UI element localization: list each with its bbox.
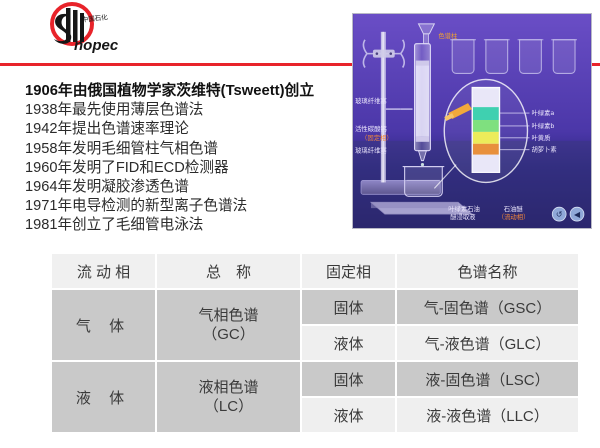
receiving-beaker: [403, 167, 445, 197]
beaker-icon: [484, 40, 510, 74]
cell-general-name-abbr: （GC）: [157, 325, 300, 344]
cell-chromatography-name: 气-固色谱（GSC）: [397, 290, 578, 324]
cell-general-name-abbr: （LC）: [157, 397, 300, 416]
timeline-line: 1964年发明凝胶渗透色谱: [25, 178, 347, 197]
figure-label-stationary-phase: 活性碳酸钙: [355, 124, 387, 133]
cell-general-name: 液相色谱 （LC）: [157, 362, 300, 432]
svg-text:中国石化: 中国石化: [81, 12, 108, 24]
svg-text:nopec: nopec: [74, 37, 119, 54]
figure-label-band4: 胡萝卜素: [531, 145, 557, 154]
svg-text:↺: ↺: [556, 210, 563, 219]
slide-root: nopec 中国石化 1906年由俄国植物学家茨维特(Tsweett)创立 19…: [0, 0, 600, 448]
cell-mobile-phase: 气 体: [52, 290, 155, 360]
beaker-icon: [518, 40, 544, 74]
column-header-mobile-phase: 流 动 相: [52, 254, 155, 288]
table-row: 气 体 气相色谱 （GC） 固体 气-固色谱（GSC）: [52, 290, 578, 324]
beaker-icon: [450, 40, 476, 74]
timeline-line: 1906年由俄国植物学家茨维特(Tsweett)创立: [25, 82, 347, 101]
chromatography-classification-table: 流 动 相 总 称 固定相 色谱名称 气 体 气相色谱 （GC） 固体 气-固色…: [50, 252, 578, 428]
figure-label-band2: 叶绿素b: [531, 121, 554, 130]
chromatography-history-timeline: 1906年由俄国植物学家茨维特(Tsweett)创立 1938年最先使用薄层色谱…: [25, 82, 347, 236]
chromatography-apparatus-figure: 色谱柱 玻璃纤维塞 活性碳酸钙 （固定相） 玻璃纤维塞 叶绿素a 叶绿素b 叶黄…: [352, 13, 592, 229]
cell-stationary-phase: 液体: [302, 398, 395, 432]
figure-label-glass-wool-bottom: 玻璃纤维塞: [355, 146, 387, 155]
timeline-line: 1958年发明毛细管柱气相色谱: [25, 140, 347, 159]
figure-label-band3: 叶黄质: [531, 133, 551, 142]
cell-stationary-phase: 固体: [302, 290, 395, 324]
timeline-line: 1971年电导检测的新型离子色谱法: [25, 197, 347, 216]
cell-chromatography-name: 气-液色谱（GLC）: [397, 326, 578, 360]
timeline-line: 1942年提出色谱速率理论: [25, 120, 347, 139]
cell-general-name-text: 气相色谱: [157, 306, 300, 325]
column-header-general-name: 总 称: [157, 254, 300, 288]
figure-label-extract: 叶绿素石油: [448, 204, 480, 213]
column-header-chromatography-name: 色谱名称: [397, 254, 578, 288]
timeline-line: 1960年发明了FID和ECD检测器: [25, 159, 347, 178]
cell-general-name: 气相色谱 （GC）: [157, 290, 300, 360]
figure-label-extract2: 醚浸取液: [450, 212, 476, 221]
timeline-line: 1981年创立了毛细管电泳法: [25, 216, 347, 235]
sinopec-logo: nopec 中国石化: [30, 2, 126, 60]
cell-mobile-phase: 液 体: [52, 362, 155, 432]
cell-stationary-phase: 固体: [302, 362, 395, 396]
table-row: 液 体 液相色谱 （LC） 固体 液-固色谱（LSC）: [52, 362, 578, 396]
column-header-stationary-phase: 固定相: [302, 254, 395, 288]
figure-label-band1: 叶绿素a: [531, 108, 554, 117]
figure-label-mobile-phase: 石油醚: [504, 204, 524, 213]
svg-text:◀: ◀: [574, 210, 581, 219]
figure-label-mobile-phase-note: （流动相）: [498, 212, 530, 221]
cell-stationary-phase: 液体: [302, 326, 395, 360]
table-header-row: 流 动 相 总 称 固定相 色谱名称: [52, 254, 578, 288]
figure-label-glass-wool-top: 玻璃纤维塞: [355, 96, 387, 105]
figure-label-column: 色谱柱: [438, 31, 458, 40]
timeline-line: 1938年最先使用薄层色谱法: [25, 101, 347, 120]
cell-chromatography-name: 液-固色谱（LSC）: [397, 362, 578, 396]
figure-label-stationary-phase-note: （固定相）: [361, 133, 393, 142]
beaker-icon: [551, 40, 577, 74]
cell-chromatography-name: 液-液色谱（LLC）: [397, 398, 578, 432]
cell-general-name-text: 液相色谱: [157, 378, 300, 397]
